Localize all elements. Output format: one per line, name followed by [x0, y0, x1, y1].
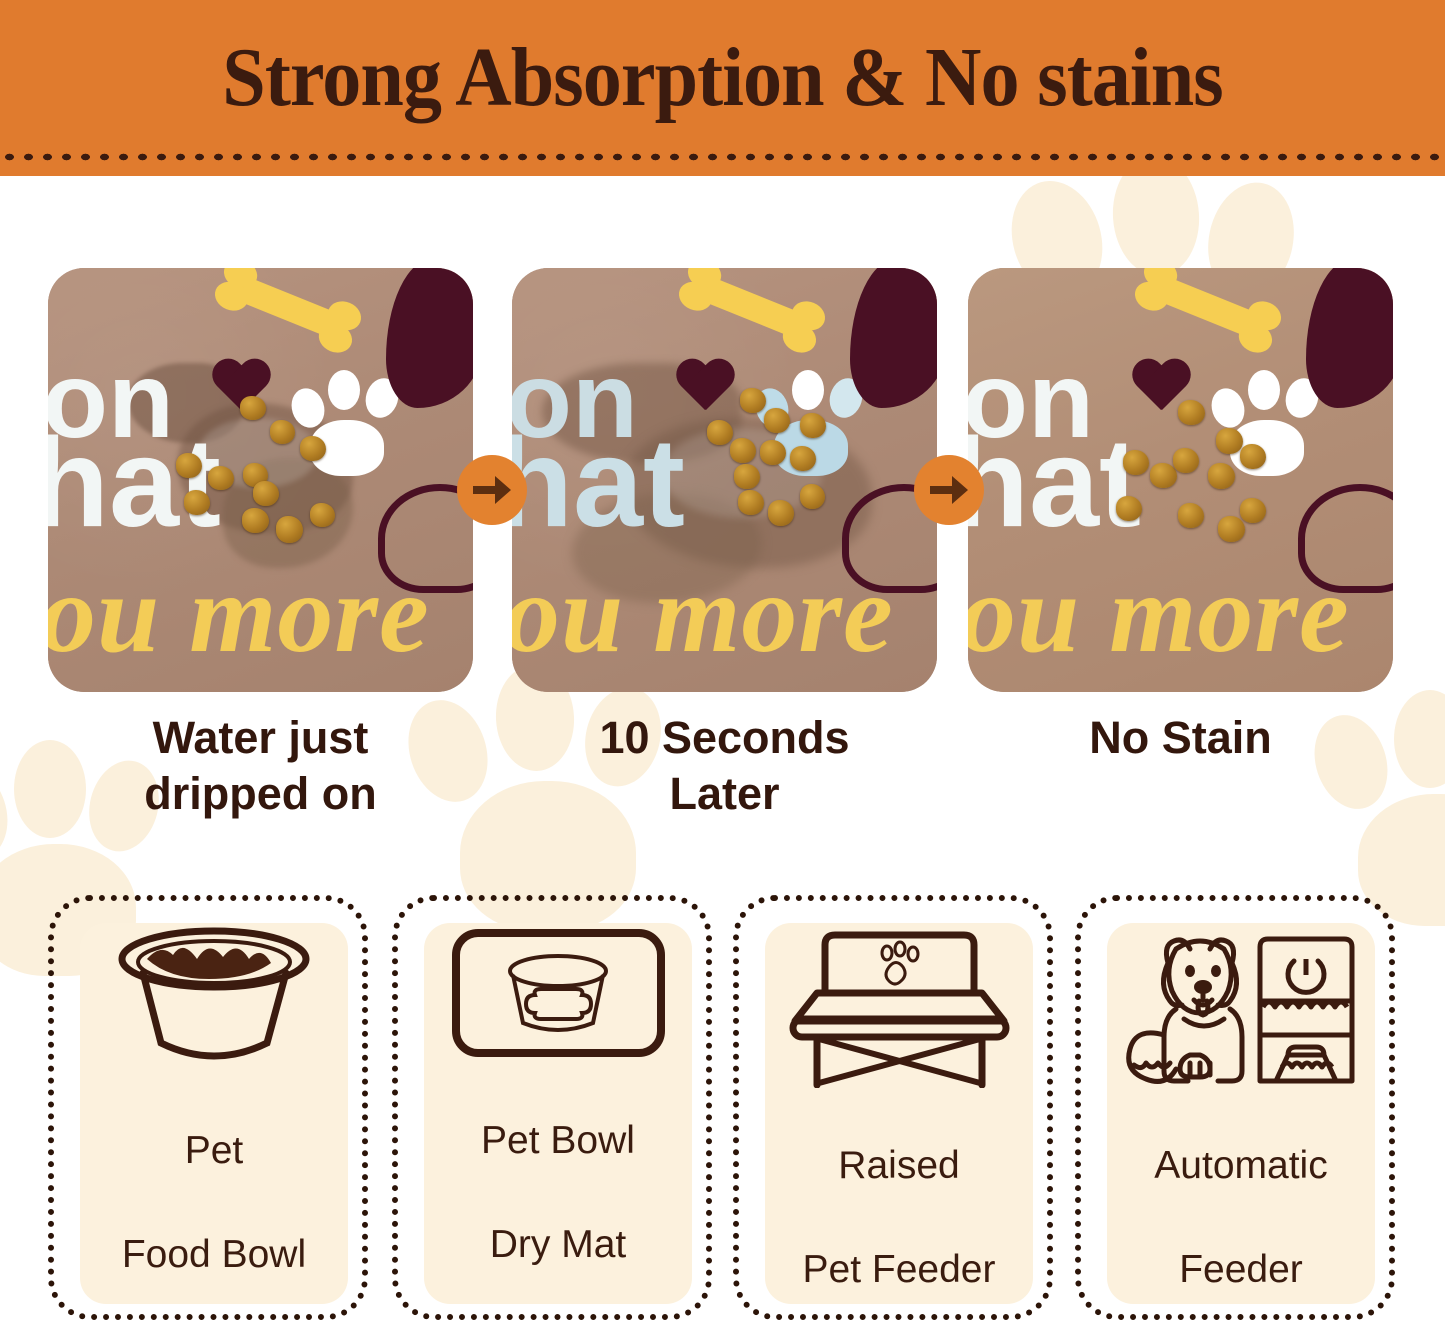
caption-line: 10 Seconds: [512, 710, 937, 766]
caption-line: Later: [512, 766, 937, 822]
kibble: [1178, 400, 1205, 425]
mat-dog-ear-graphic: [386, 268, 473, 408]
kibble: [1123, 450, 1149, 475]
card-label-line: Pet: [80, 1125, 348, 1177]
card-label-line: Raised: [765, 1140, 1033, 1192]
kibble: [768, 500, 794, 526]
mat-text-more: ou more: [512, 558, 894, 670]
mat-text-hat: hat: [48, 420, 221, 546]
kibble: [738, 490, 764, 515]
kibble: [740, 388, 766, 413]
kibble: [240, 396, 266, 420]
card-inner-panel: Pet Bowl Dry Mat: [424, 923, 692, 1304]
card-inner-panel: Pet Food Bowl: [80, 923, 348, 1304]
pet-mat-photo: on hat ou more: [968, 268, 1393, 692]
kibble: [242, 508, 269, 533]
kibble: [253, 481, 279, 506]
demo-photo-step-1: on hat ou more: [48, 268, 473, 692]
mat-heart-graphic: [674, 360, 736, 416]
card-label-line: Food Bowl: [80, 1229, 348, 1281]
kibble: [1216, 428, 1243, 454]
use-case-card-pet-food-bowl[interactable]: Pet Food Bowl: [48, 895, 368, 1320]
demo-photo-step-3: on hat ou more: [968, 268, 1393, 692]
use-case-card-automatic-feeder[interactable]: Automatic Feeder: [1075, 895, 1395, 1320]
kibble: [184, 490, 210, 515]
automatic-feeder-icon: [1107, 923, 1375, 1088]
dotted-divider: [0, 150, 1445, 164]
mat-dog-ear-graphic: [850, 268, 937, 408]
kibble: [276, 516, 303, 543]
step-arrow-1: [457, 455, 527, 525]
card-inner-panel: Automatic Feeder: [1107, 923, 1375, 1304]
kibble: [800, 484, 825, 509]
kibble: [176, 453, 202, 478]
infographic-root: Strong Absorption & No stains on hat ou …: [0, 0, 1445, 1342]
caption-line: dripped on: [48, 766, 473, 822]
kibble: [1116, 496, 1142, 521]
mat-text-hat: hat: [512, 420, 685, 546]
step-arrow-2: [914, 455, 984, 525]
kibble: [310, 503, 335, 527]
kibble: [1240, 444, 1266, 469]
pet-mat-photo: on hat ou more: [512, 268, 937, 692]
card-label-line: Pet Feeder: [765, 1244, 1033, 1296]
demo-caption-2: 10 Seconds Later: [512, 710, 937, 822]
kibble: [1218, 516, 1245, 542]
mat-dog-ear-graphic: [1306, 268, 1393, 408]
card-label: Raised Pet Feeder: [765, 1088, 1033, 1342]
card-label-line: Feeder: [1107, 1244, 1375, 1296]
kibble: [270, 420, 295, 444]
absorption-demo-row: on hat ou more: [0, 268, 1445, 692]
kibble: [760, 440, 786, 465]
page-title: Strong Absorption & No stains: [51, 26, 1395, 130]
use-case-card-raised-pet-feeder[interactable]: Raised Pet Feeder: [733, 895, 1053, 1320]
raised-pet-feeder-icon: [765, 923, 1033, 1088]
kibble: [707, 420, 733, 445]
card-label-line: Dry Mat: [424, 1219, 692, 1271]
mat-text-more: ou more: [968, 558, 1350, 670]
kibble: [1240, 498, 1266, 523]
caption-line: No Stain: [968, 710, 1393, 766]
demo-caption-3: No Stain: [968, 710, 1393, 766]
card-label-line: Automatic: [1107, 1140, 1375, 1192]
card-label: Pet Food Bowl: [80, 1073, 348, 1333]
demo-caption-1: Water just dripped on: [48, 710, 473, 822]
use-case-cards: Pet Food Bowl Pet Bowl Dry Mat: [0, 895, 1445, 1325]
card-label: Automatic Feeder: [1107, 1088, 1375, 1342]
mat-text-more: ou more: [48, 558, 430, 670]
kibble: [734, 464, 760, 489]
card-label: Pet Bowl Dry Mat: [424, 1063, 692, 1323]
mat-text-hat: hat: [968, 420, 1141, 546]
card-inner-panel: Raised Pet Feeder: [765, 923, 1033, 1304]
kibble: [1173, 448, 1199, 473]
kibble: [300, 436, 326, 461]
pet-mat-photo: on hat ou more: [48, 268, 473, 692]
caption-line: Water just: [48, 710, 473, 766]
kibble: [1208, 463, 1235, 489]
kibble: [764, 408, 790, 433]
kibble: [208, 466, 234, 490]
card-label-line: Pet Bowl: [424, 1115, 692, 1167]
kibble: [790, 446, 816, 471]
kibble: [800, 413, 826, 438]
pet-bowl-dry-mat-icon: [424, 923, 692, 1063]
header-banner: Strong Absorption & No stains: [0, 0, 1445, 176]
kibble: [1178, 503, 1204, 528]
demo-photo-step-2: on hat ou more: [512, 268, 937, 692]
pet-food-bowl-icon: [80, 923, 348, 1073]
use-case-card-pet-bowl-dry-mat[interactable]: Pet Bowl Dry Mat: [392, 895, 712, 1320]
kibble: [1150, 463, 1177, 488]
kibble: [730, 438, 756, 463]
